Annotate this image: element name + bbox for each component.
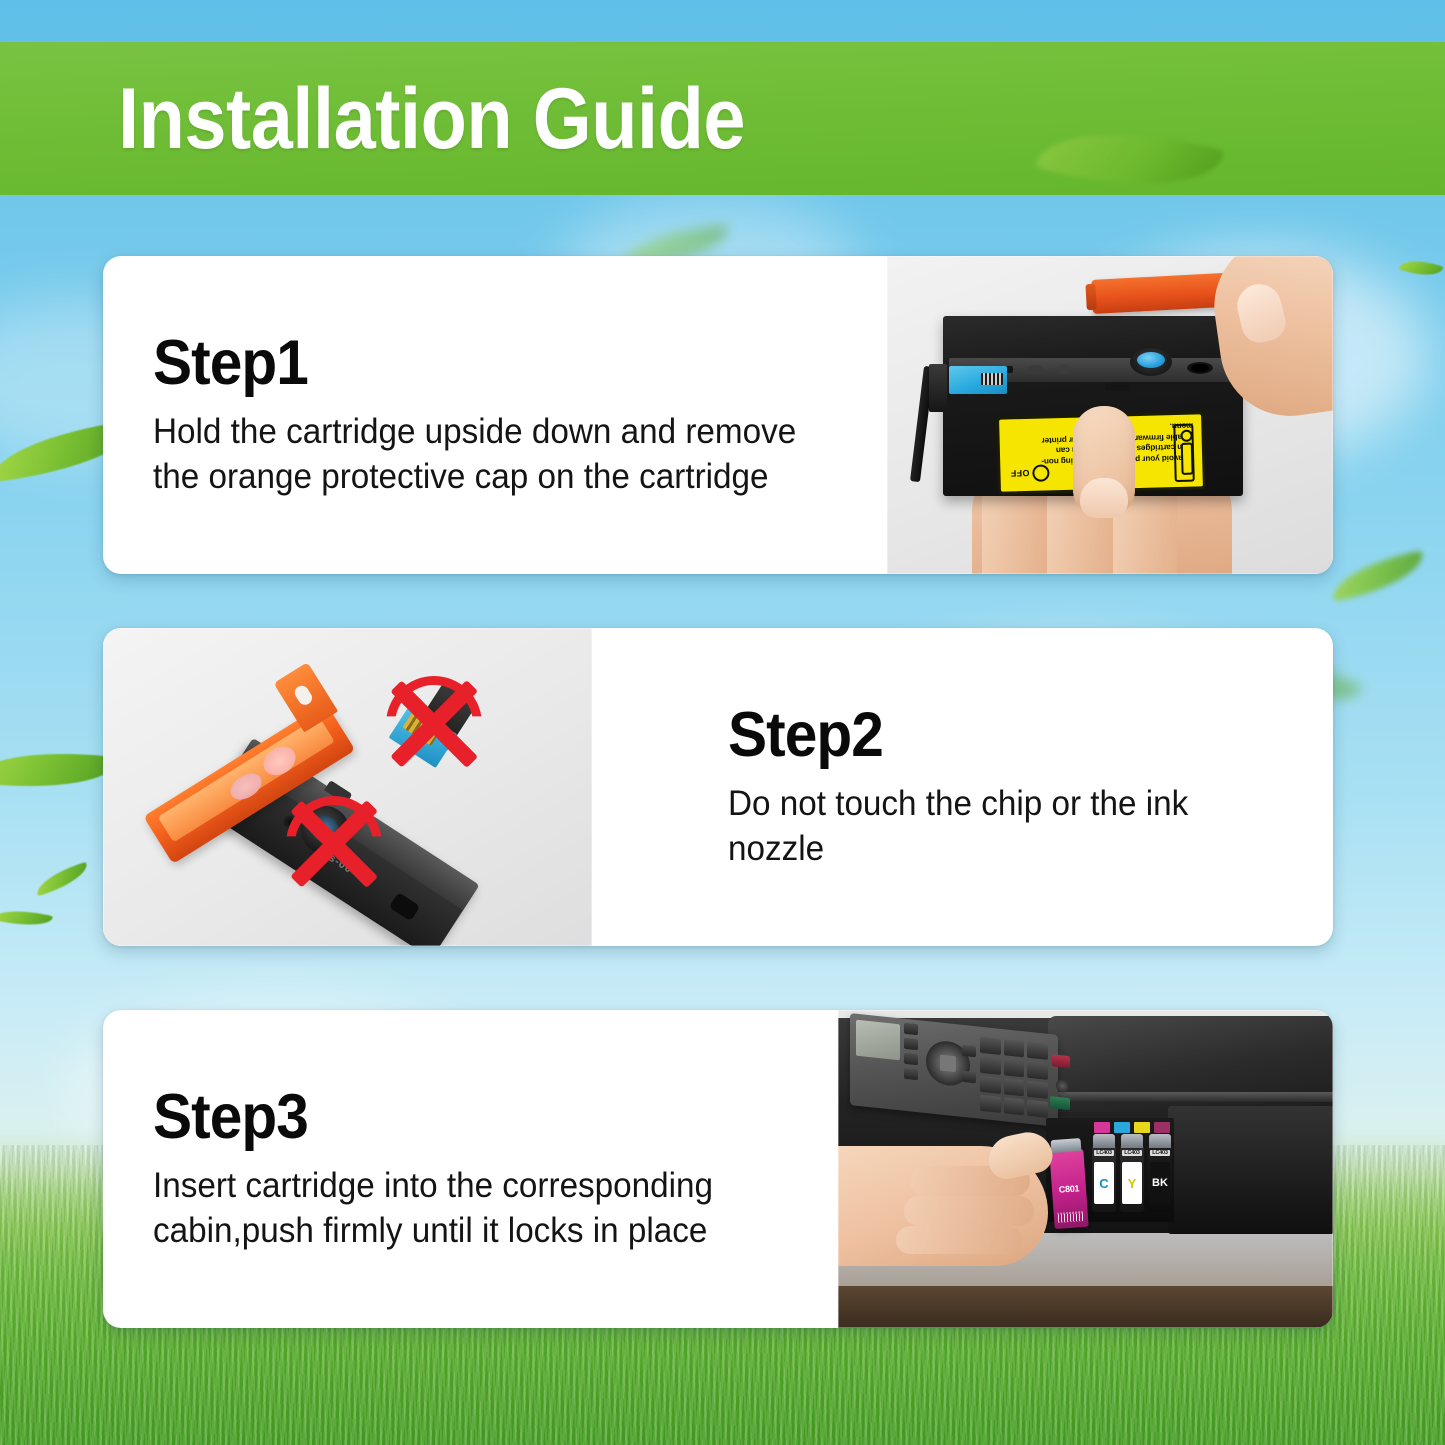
cartridge-vent-hole [1187,362,1213,374]
keypad-key [1004,1097,1025,1115]
cartridge-color-letter: Y [1122,1162,1142,1204]
step-3-title: Step3 [153,1084,790,1150]
leaf-icon [1328,550,1429,601]
step-1-text: Step1 Hold the cartridge upside down and… [103,256,887,574]
panel-button [904,1038,918,1050]
toggle-ring-icon [1032,464,1049,481]
printer-start-button [1050,1096,1070,1110]
step-2-text: Step2 Do not touch the chip or the ink n… [592,628,1333,946]
printer-lid-edge [1056,1092,1333,1102]
keypad-key [1027,1061,1048,1079]
keypad-key [980,1056,1001,1074]
installed-cartridge-black: LC403 BK [1148,1146,1172,1212]
step-card-1: Step1 Hold the cartridge upside down and… [103,256,1333,574]
cartridge-screw [281,813,299,831]
step-3-text: Step3 Insert cartridge into the correspo… [103,1010,838,1328]
finger-shape [904,1196,1034,1226]
cartridge-grip [1149,1134,1171,1148]
ink-nozzle-port [1130,348,1172,376]
magenta-cartridge-being-inserted: C801 [1049,1149,1088,1229]
ink-nozzle [301,806,349,854]
cartridge-barcode [1058,1211,1085,1223]
panel-button [904,1068,918,1080]
step-card-2: Cs-00 Step2 Do [103,628,1333,946]
cartridge-code: LC403 [1122,1150,1142,1156]
info-person-icon [1173,424,1195,483]
thumbnail-shape [1080,478,1128,518]
slot-color-tag-black [1154,1122,1170,1133]
slot-color-tag-cyan [1114,1122,1130,1133]
cartridge-grip [1051,1138,1082,1153]
off-toggle-icon: OFF [1010,464,1049,482]
keypad-key [1004,1078,1025,1096]
step-1-body: Hold the cartridge upside down and remov… [153,409,850,500]
printer-stop-button [1052,1054,1070,1068]
panel-button [904,1023,918,1035]
cartridge-color-letter: C [1094,1162,1114,1204]
page-title-banner: Installation Guide [0,42,1445,195]
page-title: Installation Guide [118,76,745,162]
step-card-3: Step3 Insert cartridge into the correspo… [103,1010,1333,1328]
leaf-icon [0,904,53,932]
panel-button [962,1071,976,1083]
keypad-key [1004,1058,1025,1076]
cartridge-code: LC403 [1094,1150,1114,1156]
cartridge-grip [1121,1134,1143,1148]
installed-cartridge-cyan: LC403 C [1092,1146,1116,1212]
slot-color-tag-yellow [1134,1122,1150,1133]
cartridge-lever-base [929,364,947,412]
step-1-photo: To avoid your printer not accepting non-… [887,256,1333,574]
leaf-icon [33,862,92,896]
desk-surface [838,1286,1333,1328]
keypad-key [1027,1042,1048,1060]
keypad-key [980,1075,1001,1093]
step-1-title: Step1 [153,330,836,396]
step-2-title: Step2 [728,702,1291,768]
keypad-key [1004,1039,1025,1057]
printer-lcd-screen [856,1020,900,1061]
cartridge-slot [389,892,421,921]
off-label: OFF [1010,468,1029,478]
installed-cartridge-yellow: LC403 Y [1120,1146,1144,1212]
leaf-icon [1399,254,1444,282]
installation-guide-page: Installation Guide Step1 Hold the cartri… [0,0,1445,1445]
cartridge-code: LC403 [1150,1150,1170,1156]
keypad-key [980,1037,1001,1055]
panel-button [962,1045,976,1057]
cartridge-screw [1059,364,1069,374]
keypad-key [1027,1080,1048,1098]
cartridge-grip [1093,1134,1115,1148]
cartridge-notch [1105,383,1131,391]
leaf-icon [1035,107,1225,211]
cartridge-code: C801 [1055,1183,1084,1195]
step-2-body: Do not touch the chip or the ink nozzle [728,781,1260,872]
cartridge-screw [1027,365,1043,374]
keypad-key [980,1094,1001,1112]
finger-shape [896,1226,1022,1254]
cartridge-color-letter: BK [1150,1162,1170,1204]
panel-button [904,1053,918,1065]
printer-power-button [1056,1079,1069,1093]
cartridge-chip [949,366,1007,394]
step-3-photo: LC403 C LC403 Y LC403 BK C801 [838,1010,1333,1328]
printer-numeric-keypad [980,1037,1048,1118]
step-3-body: Insert cartridge into the corresponding … [153,1163,804,1254]
keypad-key [1027,1099,1048,1117]
slot-color-tag-magenta [1094,1122,1110,1133]
printer-side-panel [1168,1106,1333,1234]
step-2-photo: Cs-00 [103,628,592,946]
leaf-icon [0,743,118,797]
